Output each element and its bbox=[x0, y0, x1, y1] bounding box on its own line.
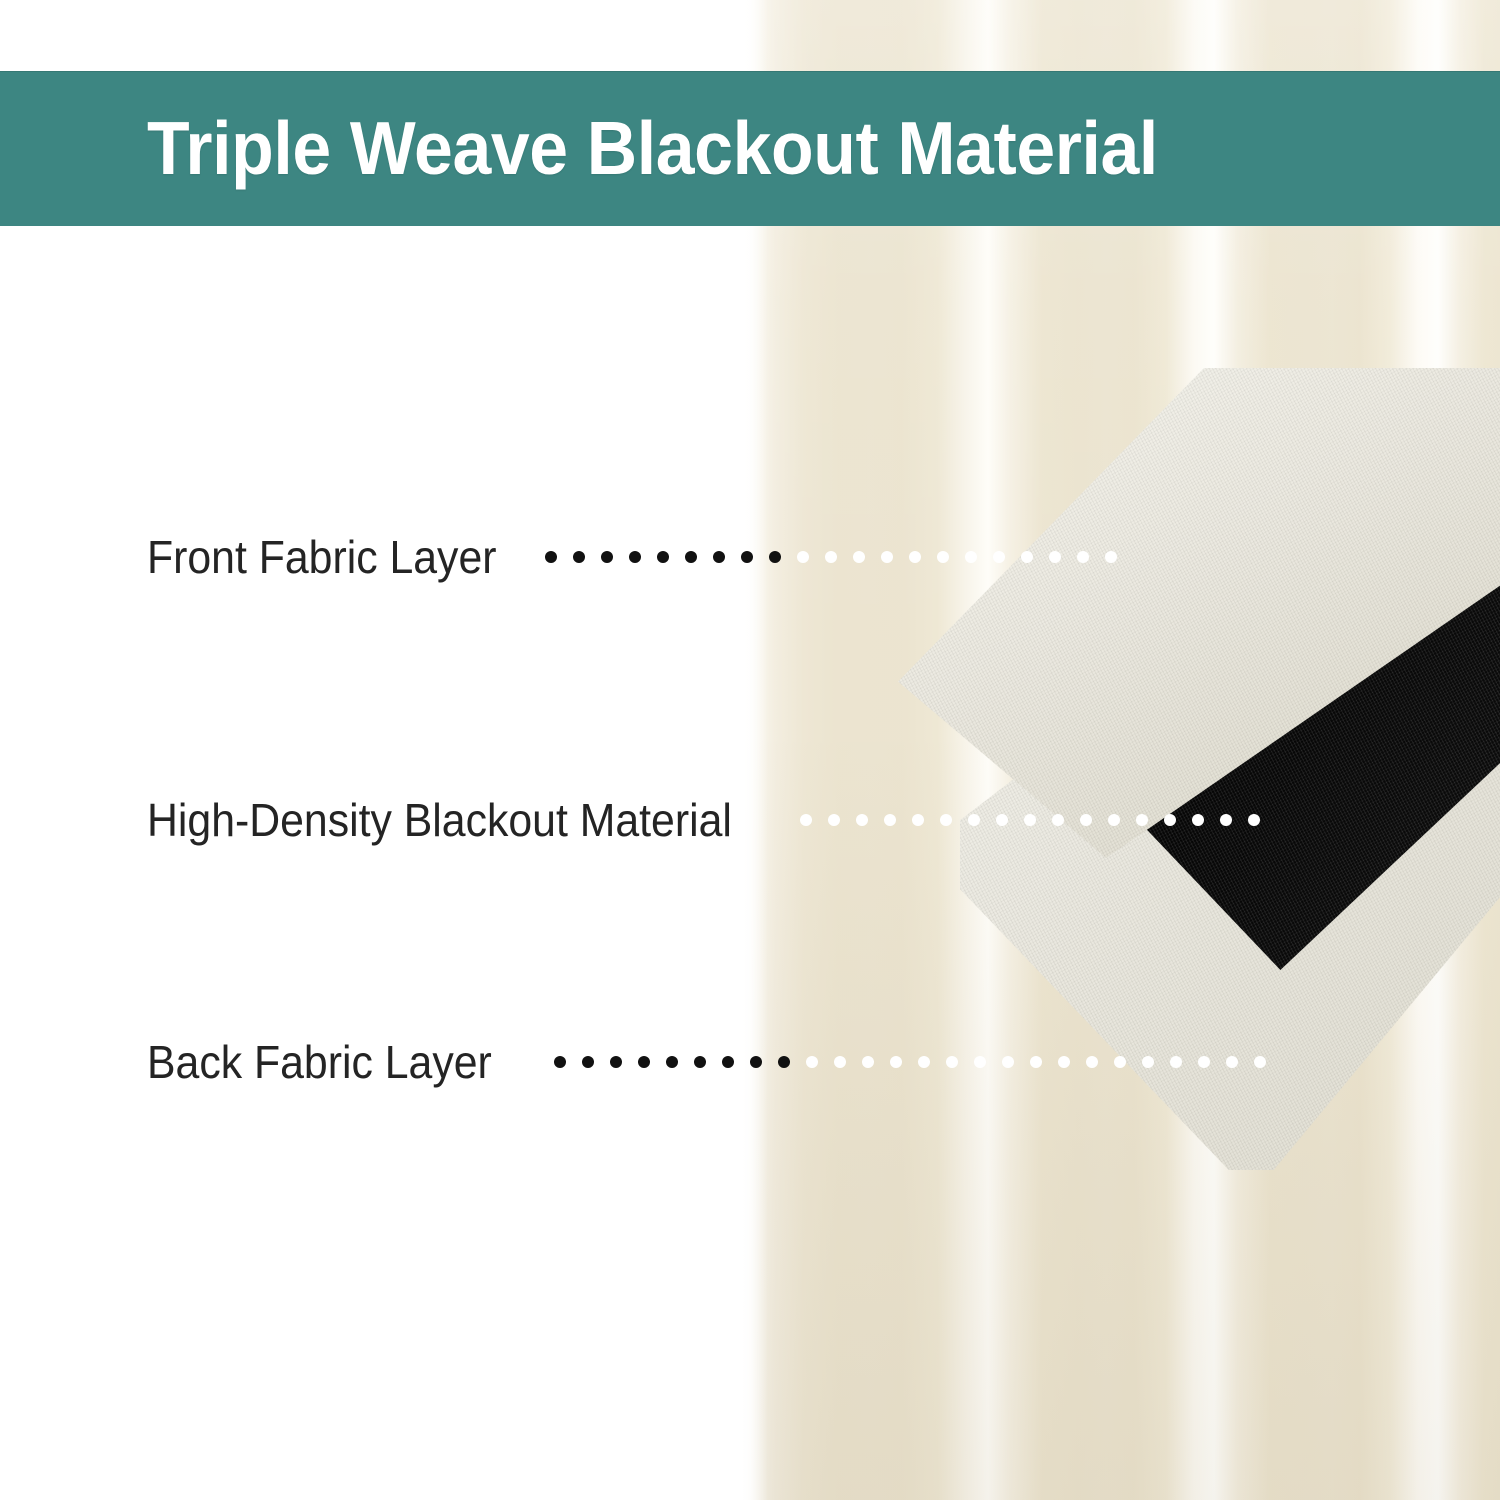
leader-dot bbox=[937, 551, 949, 563]
leader-dot bbox=[741, 551, 753, 563]
leader-dot bbox=[1080, 814, 1092, 826]
leader-dot bbox=[918, 1056, 930, 1068]
leader-dot bbox=[1248, 814, 1260, 826]
callout-label-back-fabric-layer: Back Fabric Layer bbox=[147, 1039, 492, 1085]
leader-dot bbox=[800, 814, 812, 826]
leader-dot bbox=[856, 814, 868, 826]
leader-dot bbox=[1192, 814, 1204, 826]
leader-line-front-fabric-layer bbox=[545, 550, 1133, 564]
leader-dot bbox=[996, 814, 1008, 826]
leader-dot bbox=[1105, 551, 1117, 563]
leader-dot bbox=[1108, 814, 1120, 826]
leader-dot bbox=[545, 551, 557, 563]
leader-dot bbox=[890, 1056, 902, 1068]
leader-dot bbox=[946, 1056, 958, 1068]
leader-dot bbox=[1024, 814, 1036, 826]
leader-dot bbox=[828, 814, 840, 826]
leader-dot bbox=[834, 1056, 846, 1068]
leader-dot bbox=[881, 551, 893, 563]
leader-dot bbox=[582, 1056, 594, 1068]
leader-dot bbox=[666, 1056, 678, 1068]
leader-dot bbox=[694, 1056, 706, 1068]
leader-dot bbox=[750, 1056, 762, 1068]
leader-dot bbox=[1086, 1056, 1098, 1068]
leader-dot bbox=[1058, 1056, 1070, 1068]
leader-line-high-density-blackout-material bbox=[800, 813, 1276, 827]
leader-dot bbox=[825, 551, 837, 563]
leader-dot bbox=[1136, 814, 1148, 826]
leader-dot bbox=[1142, 1056, 1154, 1068]
leader-dot bbox=[722, 1056, 734, 1068]
leader-dot bbox=[601, 551, 613, 563]
callout-back-fabric-layer: Back Fabric Layer bbox=[147, 1032, 1282, 1092]
leader-dot bbox=[1030, 1056, 1042, 1068]
leader-dot bbox=[1002, 1056, 1014, 1068]
leader-dot bbox=[685, 551, 697, 563]
leader-dot bbox=[968, 814, 980, 826]
leader-dot bbox=[806, 1056, 818, 1068]
leader-dot bbox=[940, 814, 952, 826]
leader-dot bbox=[884, 814, 896, 826]
leader-dot bbox=[1226, 1056, 1238, 1068]
leader-dot bbox=[1164, 814, 1176, 826]
leader-dot bbox=[778, 1056, 790, 1068]
leader-dot bbox=[965, 551, 977, 563]
leader-dot bbox=[573, 551, 585, 563]
leader-dot bbox=[909, 551, 921, 563]
leader-dot bbox=[1170, 1056, 1182, 1068]
leader-dot bbox=[1052, 814, 1064, 826]
leader-dot bbox=[657, 551, 669, 563]
callout-label-front-fabric-layer: Front Fabric Layer bbox=[147, 534, 496, 580]
callout-high-density-blackout-material: High-Density Blackout Material bbox=[147, 790, 1276, 850]
callout-front-fabric-layer: Front Fabric Layer bbox=[147, 527, 1133, 587]
page-title: Triple Weave Blackout Material bbox=[147, 111, 1158, 186]
leader-dot bbox=[1021, 551, 1033, 563]
leader-dot bbox=[862, 1056, 874, 1068]
leader-dot bbox=[993, 551, 1005, 563]
leader-dot bbox=[1254, 1056, 1266, 1068]
leader-dot bbox=[1220, 814, 1232, 826]
leader-dot bbox=[1049, 551, 1061, 563]
title-banner: Triple Weave Blackout Material bbox=[0, 71, 1500, 226]
leader-dot bbox=[554, 1056, 566, 1068]
leader-dot bbox=[1198, 1056, 1210, 1068]
leader-dot bbox=[629, 551, 641, 563]
leader-line-back-fabric-layer bbox=[554, 1055, 1282, 1069]
infographic-canvas: Triple Weave Blackout Material Front Fab… bbox=[0, 0, 1500, 1500]
leader-dot bbox=[610, 1056, 622, 1068]
leader-dot bbox=[797, 551, 809, 563]
leader-dot bbox=[1077, 551, 1089, 563]
leader-dot bbox=[912, 814, 924, 826]
leader-dot bbox=[1114, 1056, 1126, 1068]
leader-dot bbox=[974, 1056, 986, 1068]
leader-dot bbox=[769, 551, 781, 563]
leader-dot bbox=[638, 1056, 650, 1068]
leader-dot bbox=[713, 551, 725, 563]
leader-dot bbox=[853, 551, 865, 563]
callout-label-high-density-blackout-material: High-Density Blackout Material bbox=[147, 797, 732, 843]
